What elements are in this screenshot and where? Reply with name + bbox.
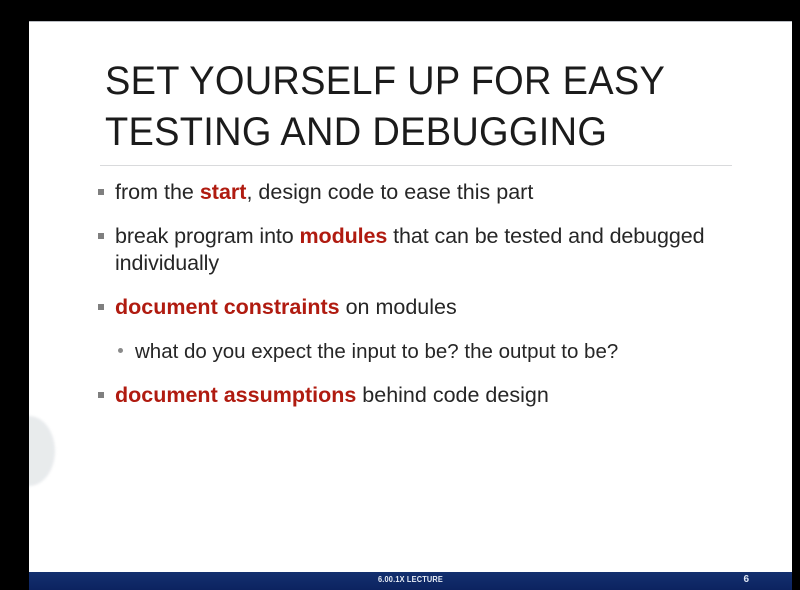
bullet-text: break program into modules that can be t… (115, 223, 757, 277)
list-item: from the start, design code to ease this… (97, 179, 757, 206)
square-bullet-icon (98, 304, 104, 310)
slide-body-bullets: from the start, design code to ease this… (97, 179, 757, 426)
title-divider (100, 165, 732, 166)
bullet-text: what do you expect the input to be? the … (135, 338, 757, 365)
round-bullet-icon (118, 348, 123, 353)
presentation-slide: Set yourself up for easy testing and deb… (29, 21, 792, 590)
bullet-segment-plain: break program into (115, 224, 300, 248)
bullet-segment-plain: what do you expect the input to be? the … (135, 340, 618, 363)
slide-footer-bar: 6.00.1X LECTURE 6 (29, 572, 792, 590)
bullet-text: document assumptions behind code design (115, 382, 757, 409)
bullet-segment-highlight: document assumptions (115, 383, 356, 407)
footer-course-label: 6.00.1X LECTURE (60, 575, 762, 584)
bullet-segment-plain: from the (115, 180, 200, 204)
square-bullet-icon (98, 233, 104, 239)
bullet-segment-highlight: start (200, 180, 247, 204)
square-bullet-icon (98, 392, 104, 398)
list-item: document constraints on modules (97, 294, 757, 321)
player-edge-artifact (29, 416, 55, 486)
bullet-segment-highlight: modules (300, 224, 388, 248)
video-letterbox-frame: Set yourself up for easy testing and deb… (0, 0, 800, 590)
footer-page-number: 6 (743, 574, 749, 585)
slide-title: Set yourself up for easy testing and deb… (105, 56, 713, 158)
bullet-segment-highlight: document constraints (115, 295, 340, 319)
list-item: what do you expect the input to be? the … (97, 338, 757, 365)
bullet-segment-plain: , design code to ease this part (246, 180, 533, 204)
list-item: document assumptions behind code design (97, 382, 757, 409)
bullet-segment-plain: behind code design (356, 383, 548, 407)
square-bullet-icon (98, 189, 104, 195)
list-item: break program into modules that can be t… (97, 223, 757, 277)
bullet-segment-plain: on modules (340, 295, 457, 319)
bullet-text: document constraints on modules (115, 294, 757, 321)
bullet-text: from the start, design code to ease this… (115, 179, 757, 206)
